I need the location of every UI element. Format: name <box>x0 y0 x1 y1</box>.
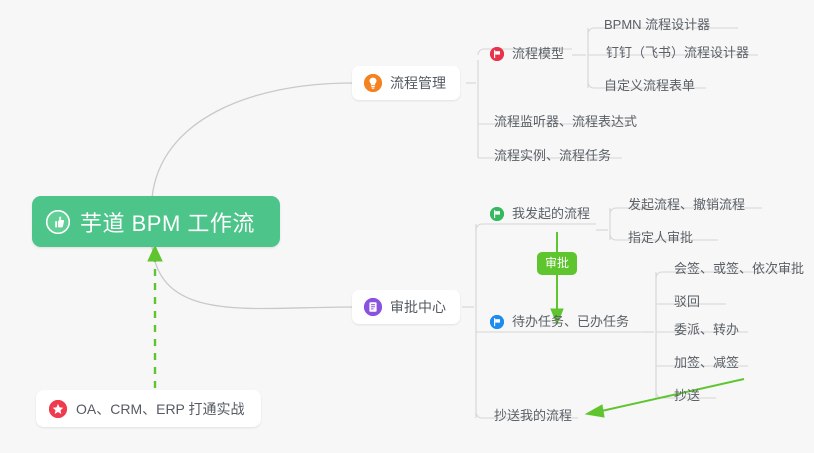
callout-node-integration[interactable]: OA、CRM、ERP 打通实战 <box>36 390 261 427</box>
node-label-cc: 抄送 <box>674 387 700 404</box>
branch-node-approval-center[interactable]: 审批中心 <box>352 290 460 324</box>
branch-label-approval-center: 审批中心 <box>390 297 446 317</box>
thumbs-up-icon <box>46 210 70 234</box>
node-designated-approver[interactable]: 指定人审批 <box>624 226 699 250</box>
node-label-process-model: 流程模型 <box>512 45 564 62</box>
node-countersign-orsign-sequential[interactable]: 会签、或签、依次审批 <box>670 257 810 281</box>
node-label-designated-approver: 指定人审批 <box>628 229 693 246</box>
node-todo-done-tasks[interactable]: 待办任务、已办任务 <box>488 310 635 334</box>
lightbulb-icon <box>364 74 382 92</box>
flag-icon <box>490 207 504 221</box>
node-label-todo-done-tasks: 待办任务、已办任务 <box>512 313 629 330</box>
edge-root-to-approval <box>152 246 352 309</box>
node-start-cancel-process[interactable]: 发起流程、撤销流程 <box>624 193 751 217</box>
node-label-custom-process-form: 自定义流程表单 <box>604 77 695 94</box>
annotation-pill-approval: 审批 <box>537 252 577 275</box>
branch-node-process-management[interactable]: 流程管理 <box>352 66 460 100</box>
node-add-remove-sign[interactable]: 加签、减签 <box>670 351 745 375</box>
node-my-initiated-process[interactable]: 我发起的流程 <box>488 202 596 226</box>
node-process-listener-expression[interactable]: 流程监听器、流程表达式 <box>490 110 643 134</box>
node-process-instance-task[interactable]: 流程实例、流程任务 <box>490 144 617 168</box>
node-label-process-instance-task: 流程实例、流程任务 <box>494 147 611 164</box>
mindmap-canvas: 芋道 BPM 工作流 流程管理 审批中心 <box>0 0 814 453</box>
node-reject[interactable]: 驳回 <box>670 290 706 314</box>
node-dingtalk-feishu-designer[interactable]: 钉钉（飞书）流程设计器 <box>602 41 755 65</box>
node-delegate-transfer[interactable]: 委派、转办 <box>670 318 745 342</box>
node-label-add-remove-sign: 加签、减签 <box>674 354 739 371</box>
flag-icon <box>490 315 504 329</box>
node-label-countersign-orsign-sequential: 会签、或签、依次审批 <box>674 260 804 277</box>
node-label-start-cancel-process: 发起流程、撤销流程 <box>628 196 745 213</box>
edge-root-to-process <box>152 83 352 198</box>
clipboard-icon <box>364 298 382 316</box>
annotation-callout-arrow <box>148 246 162 388</box>
node-label-my-initiated-process: 我发起的流程 <box>512 205 590 222</box>
node-label-reject: 驳回 <box>674 293 700 310</box>
callout-label-integration: OA、CRM、ERP 打通实战 <box>76 399 245 419</box>
node-cc-to-me-process[interactable]: 抄送我的流程 <box>490 404 578 428</box>
node-custom-process-form[interactable]: 自定义流程表单 <box>600 74 701 98</box>
root-label: 芋道 BPM 工作流 <box>80 206 255 238</box>
node-label-bpmn-designer: BPMN 流程设计器 <box>604 16 710 33</box>
annotation-cc-arrow <box>586 379 744 417</box>
annotation-pill-label: 审批 <box>545 256 569 270</box>
node-bpmn-designer[interactable]: BPMN 流程设计器 <box>600 13 716 37</box>
node-label-delegate-transfer: 委派、转办 <box>674 321 739 338</box>
root-node[interactable]: 芋道 BPM 工作流 <box>32 196 280 247</box>
node-process-model[interactable]: 流程模型 <box>488 42 570 66</box>
node-label-process-listener-expression: 流程监听器、流程表达式 <box>494 113 637 130</box>
flag-icon <box>490 47 504 61</box>
node-label-dingtalk-feishu-designer: 钉钉（飞书）流程设计器 <box>606 44 749 61</box>
node-label-cc-to-me-process: 抄送我的流程 <box>494 407 572 424</box>
node-cc[interactable]: 抄送 <box>670 384 706 408</box>
star-icon <box>49 400 67 418</box>
branch-label-process-management: 流程管理 <box>390 73 446 93</box>
